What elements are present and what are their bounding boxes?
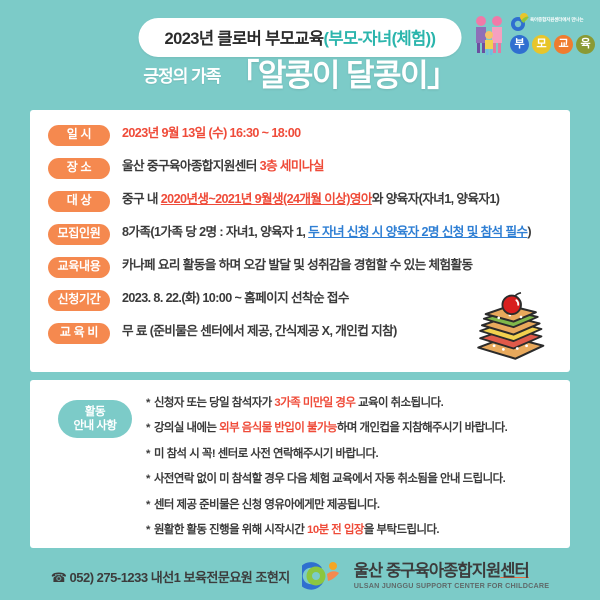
footer-contact-info: ☎ 052) 275-1233 내선1 보육전문요원 조현지 xyxy=(51,567,290,586)
clover-swirl-icon xyxy=(510,12,530,32)
notice-item: *신청자 또는 당일 참석자가 3가족 미만일 경우 교육이 취소됩니다. xyxy=(146,396,507,412)
poster-footer: ☎ 052) 275-1233 내선1 보육전문요원 조현지 울산 중구육아종합… xyxy=(0,552,600,600)
notice-1-seg-0: 강의실 내에는 xyxy=(154,422,219,434)
notice-item: *센터 제공 준비물은 신청 영유아에게만 제공됩니다. xyxy=(146,498,507,514)
footer-org-name-plain: 울산 중구육아종합지원 xyxy=(354,562,500,580)
notice-1-seg-1: 외부 음식물 반입이 불가능 xyxy=(219,422,337,434)
notice-pill-line1: 활동 xyxy=(85,405,105,419)
info-row-label-5: 신청기간 xyxy=(48,290,110,311)
info-row-label-1: 장 소 xyxy=(48,158,110,179)
info-row-2-seg-2: 와 양육자(자녀1, 양육자1) xyxy=(372,192,500,206)
brand-logo: 육아종합지원센터에서 만나는 부 모 교 육 xyxy=(468,10,594,58)
info-row: 모집인원8가족(1가족 당 2명 : 자녀1, 양육자 1, 두 자녀 신청 시… xyxy=(30,223,570,256)
program-info-card: 일 시2023년 9월 13일 (수) 16:30 ~ 18:00장 소울산 중… xyxy=(30,110,570,372)
notice-item-list: *신청자 또는 당일 참석자가 3가족 미만일 경우 교육이 취소됩니다.*강의… xyxy=(132,394,507,549)
info-row-3-seg-1: 두 자녀 신청 시 양육자 2명 신청 및 참석 필수 xyxy=(308,225,527,239)
notice-bullet-icon: * xyxy=(146,524,150,536)
info-row-label-0: 일 시 xyxy=(48,125,110,146)
brand-tagline: 육아종합지원센터에서 만나는 xyxy=(530,17,583,23)
footer-org-name-underline: 센터 xyxy=(500,562,529,580)
info-row-value-6: 무 료 (준비물은 센터에서 제공, 간식제공 X, 개인컵 지참) xyxy=(110,322,397,342)
notice-bullet-icon: * xyxy=(146,422,150,434)
notice-bullet-icon: * xyxy=(146,473,150,485)
program-title-pill: 2023년 클로버 부모교육(부모-자녀(체험)) xyxy=(139,18,462,57)
info-row-3-seg-0: 8가족(1가족 당 2명 : 자녀1, 양육자 1, xyxy=(122,225,308,239)
notice-0-seg-0: 신청자 또는 당일 참석자가 xyxy=(154,397,274,409)
info-row-6-seg-0: 무 료 (준비물은 센터에서 제공, 간식제공 X, 개인컵 지참) xyxy=(122,324,397,338)
info-row-label-3: 모집인원 xyxy=(48,224,110,245)
info-row-value-1: 울산 중구육아종합지원센터 3층 세미나실 xyxy=(110,157,324,177)
notice-5-seg-0: 원활한 활동 진행을 위해 시작시간 xyxy=(154,524,307,536)
footer-org-name-en: ULSAN JUNGGU SUPPORT CENTER FOR CHILDCAR… xyxy=(354,582,549,590)
info-row: 장 소울산 중구육아종합지원센터 3층 세미나실 xyxy=(30,157,570,190)
program-title-paren: (부모-자녀(체험)) xyxy=(323,30,435,48)
info-row-value-4: 카나페 요리 활동을 하며 오감 발달 및 성취감을 경험할 수 있는 체험활동 xyxy=(110,256,473,276)
notice-bullet-icon: * xyxy=(146,499,150,511)
notice-bullet-icon: * xyxy=(146,397,150,409)
info-row-0-seg-0: 2023년 9월 13일 (수) 16:30 ~ 18:00 xyxy=(122,126,301,140)
info-row-value-0: 2023년 9월 13일 (수) 16:30 ~ 18:00 xyxy=(110,124,301,144)
brand-badge-mo: 모 xyxy=(532,35,551,54)
notice-0-seg-1: 3가족 미만일 경우 xyxy=(274,397,355,409)
activity-notice-pill: 활동 안내 사항 xyxy=(58,400,132,438)
notice-item: *미 참석 시 꼭! 센터로 사전 연락해주시기 바랍니다. xyxy=(146,447,507,463)
info-row-5-seg-0: 2023. 8. 22.(화) 10:00 ~ 홈페이지 선착순 접수 xyxy=(122,291,349,305)
info-row-2-seg-0: 중구 내 xyxy=(122,192,161,206)
notice-bullet-icon: * xyxy=(146,448,150,460)
brand-badge-yuk: 육 xyxy=(576,35,595,54)
notice-item: *강의실 내에는 외부 음식물 반입이 불가능하며 개인컵을 지참해주시기 바랍… xyxy=(146,421,507,437)
notice-0-seg-2: 교육이 취소됩니다. xyxy=(355,397,443,409)
info-row: 대 상중구 내 2020년생~2021년 9월생(24개월 이상)영아와 양육자… xyxy=(30,190,570,223)
headline-program-name: 「알콩이 달콩이」 xyxy=(228,60,456,91)
info-row-label-2: 대 상 xyxy=(48,191,110,212)
notice-item: *원활한 활동 진행을 위해 시작시간 10분 전 입장을 부탁드립니다. xyxy=(146,523,507,539)
poster-headline: 긍정의 가족 「알콩이 달콩이」 xyxy=(143,60,456,91)
info-row-1-seg-1: 3층 세미나실 xyxy=(260,159,324,173)
notice-2-seg-0: 미 참석 시 꼭! 센터로 사전 연락해주시기 바랍니다. xyxy=(154,448,378,460)
info-row: 교육내용카나페 요리 활동을 하며 오감 발달 및 성취감을 경험할 수 있는 … xyxy=(30,256,570,289)
info-row-1-seg-0: 울산 중구육아종합지원센터 xyxy=(122,159,260,173)
headline-subtitle: 긍정의 가족 xyxy=(143,62,220,91)
center-logo-icon xyxy=(302,561,346,591)
info-row-label-6: 교 육 비 xyxy=(48,323,110,344)
info-row-4-seg-0: 카나페 요리 활동을 하며 오감 발달 및 성취감을 경험할 수 있는 체험활동 xyxy=(122,258,473,272)
brand-badge-gyo: 교 xyxy=(554,35,573,54)
poster-header: 2023년 클로버 부모교육(부모-자녀(체험)) 긍정의 가족 「알콩이 달콩… xyxy=(0,0,600,110)
notice-pill-line2: 안내 사항 xyxy=(73,419,116,433)
info-row-label-4: 교육내용 xyxy=(48,257,110,278)
footer-org-name-kr: 울산 중구육아종합지원센터 xyxy=(354,563,549,580)
notice-4-seg-0: 센터 제공 준비물은 신청 영유아에게만 제공됩니다. xyxy=(154,499,380,511)
notice-5-seg-1: 10분 전 입장 xyxy=(307,524,364,536)
info-row-value-3: 8가족(1가족 당 2명 : 자녀1, 양육자 1, 두 자녀 신청 시 양육자… xyxy=(110,223,531,243)
notice-5-seg-2: 을 부탁드립니다. xyxy=(364,524,439,536)
program-title-main: 2023년 클로버 부모교육 xyxy=(165,30,324,48)
notice-item: *사전연락 없이 미 참석할 경우 다음 체험 교육에서 자동 취소됨을 안내 … xyxy=(146,472,507,488)
info-row-value-5: 2023. 8. 22.(화) 10:00 ~ 홈페이지 선착순 접수 xyxy=(110,289,349,309)
info-row-3-seg-2: ) xyxy=(527,225,531,239)
brand-badge-group: 부 모 교 육 xyxy=(510,35,595,54)
info-row-value-2: 중구 내 2020년생~2021년 9월생(24개월 이상)영아와 양육자(자녀… xyxy=(110,190,499,210)
activity-notice-card: 활동 안내 사항 *신청자 또는 당일 참석자가 3가족 미만일 경우 교육이 … xyxy=(30,380,570,548)
brand-badge-bu: 부 xyxy=(510,35,529,54)
notice-3-seg-0: 사전연락 없이 미 참석할 경우 다음 체험 교육에서 자동 취소됨을 안내 드… xyxy=(154,473,505,485)
info-row-2-seg-1: 2020년생~2021년 9월생(24개월 이상)영아 xyxy=(161,192,372,206)
family-illustration-icon xyxy=(470,13,510,55)
info-row: 일 시2023년 9월 13일 (수) 16:30 ~ 18:00 xyxy=(30,124,570,157)
canape-sandwich-icon xyxy=(460,290,556,368)
notice-1-seg-2: 하며 개인컵을 지참해주시기 바랍니다. xyxy=(337,422,507,434)
